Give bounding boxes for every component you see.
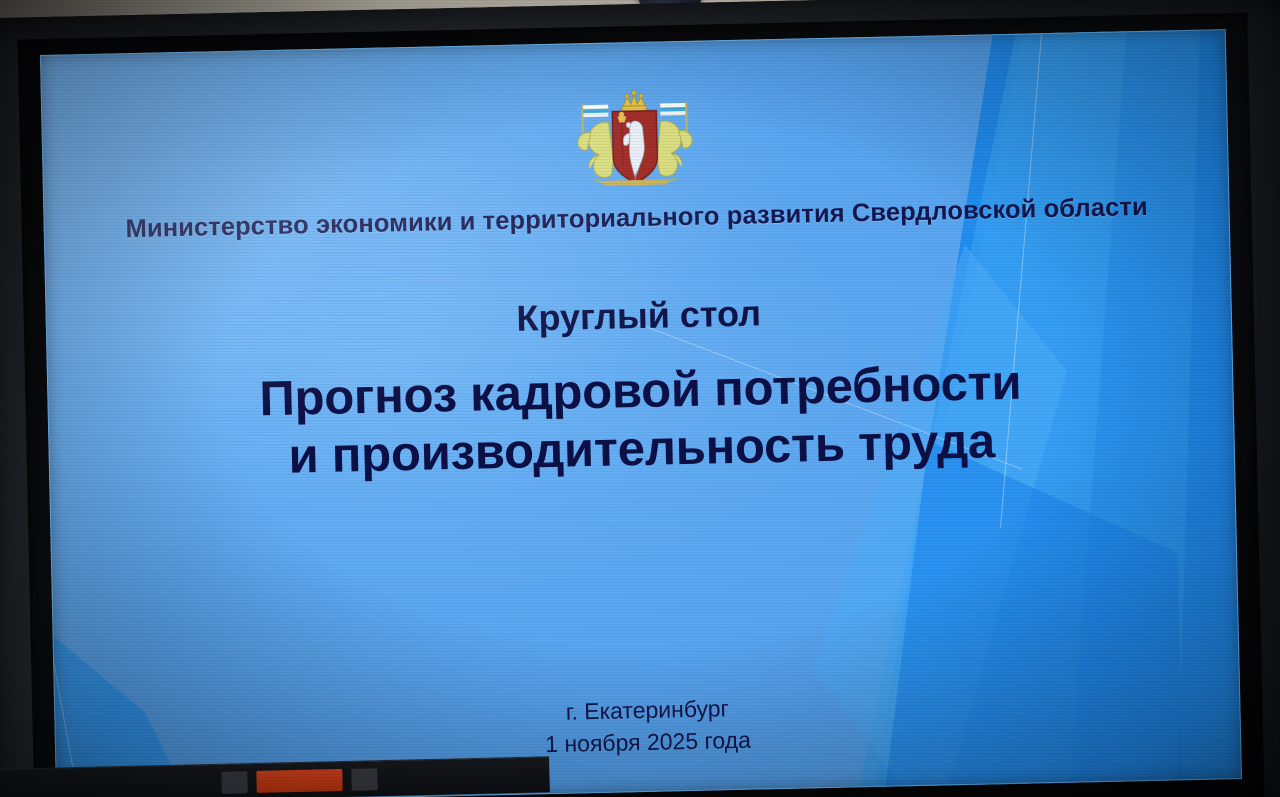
photograph-of-display: Министерство экономики и территориальног… (0, 0, 1280, 797)
event-kind-label: Круглый стол (516, 292, 761, 339)
wall-mounted-display: Министерство экономики и территориальног… (0, 0, 1280, 797)
slide-title: Прогноз кадровой потребности и производи… (259, 355, 1023, 487)
presentation-slide: Министерство экономики и территориальног… (40, 29, 1242, 797)
taskbar-tile-icon[interactable] (351, 768, 377, 791)
taskbar-tile-icon[interactable] (221, 771, 247, 794)
taskbar-active-app-icon[interactable] (256, 768, 342, 792)
display-screen: Министерство экономики и территориальног… (40, 29, 1242, 797)
ministry-header: Министерство экономики и территориальног… (43, 191, 1229, 246)
city-label: г. Екатеринбург (566, 695, 730, 725)
slide-content: Министерство экономики и территориальног… (40, 29, 1242, 797)
place-and-date: г. Екатеринбург 1 ноября 2025 года (54, 681, 1241, 771)
coat-of-arms-icon (568, 87, 702, 198)
